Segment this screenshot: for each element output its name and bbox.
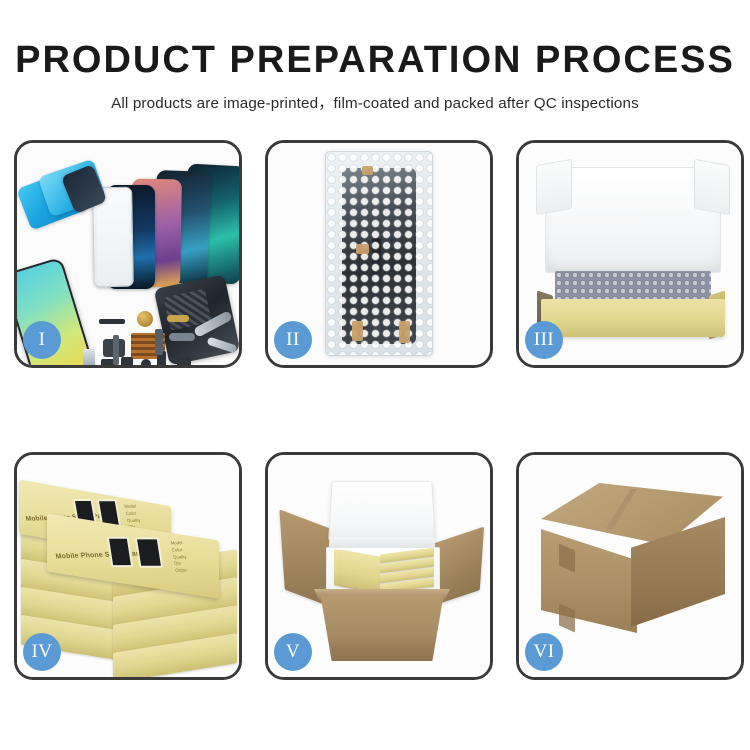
box-phone-image [135,537,163,567]
step-panel-3: III [516,140,744,368]
box-phone-image [107,537,133,567]
spare-part-icon [169,333,195,341]
carton-body [312,595,452,661]
spare-part-icon [99,319,125,324]
process-steps-grid: I II [14,140,736,680]
spare-part-icon [121,357,133,365]
kraft-box-front [541,299,725,337]
tape-icon [352,321,363,341]
sim-tray-icon [83,349,95,365]
bubble-texture [326,152,432,355]
step-badge-5: V [274,633,312,671]
step-badge-2: II [274,321,312,359]
inner-product-box [340,549,380,592]
bubble-wrap-bag [325,151,433,356]
box-spec-text: Model Color Quality Qty Origin [170,540,189,575]
foam-sheet-icon [545,167,721,273]
step-badge-3: III [525,321,563,359]
step-panel-6: VI [516,452,744,680]
spare-part-icon [113,335,119,365]
page-subtitle: All products are image-printed，film-coat… [0,91,750,113]
tape-icon [399,321,410,343]
tape-icon [362,166,373,175]
step-panel-2: II [265,140,493,368]
carton-left-face [541,529,637,633]
step-badge-6: VI [525,633,563,671]
tape-icon [356,244,369,254]
step-panel-5: V [265,452,493,680]
box-label-text: Mobile Phone Spare Parts [55,550,146,560]
step-badge-4: IV [23,633,61,671]
spare-part-icon [177,357,191,365]
step-badge-1: I [23,321,61,359]
page-title: PRODUCT PREPARATION PROCESS [0,40,750,80]
page-header: PRODUCT PREPARATION PROCESS All products… [0,0,750,113]
step-panel-1: I [14,140,242,368]
step-panel-4: Mobile Phone Spare Parts Model Color Qua… [14,452,242,680]
spare-part-icon [155,329,163,355]
styrofoam-lid-icon [328,481,436,541]
camera-lens-icon [137,311,153,327]
spare-part-icon [141,359,151,365]
flex-cable-icon [167,315,189,322]
